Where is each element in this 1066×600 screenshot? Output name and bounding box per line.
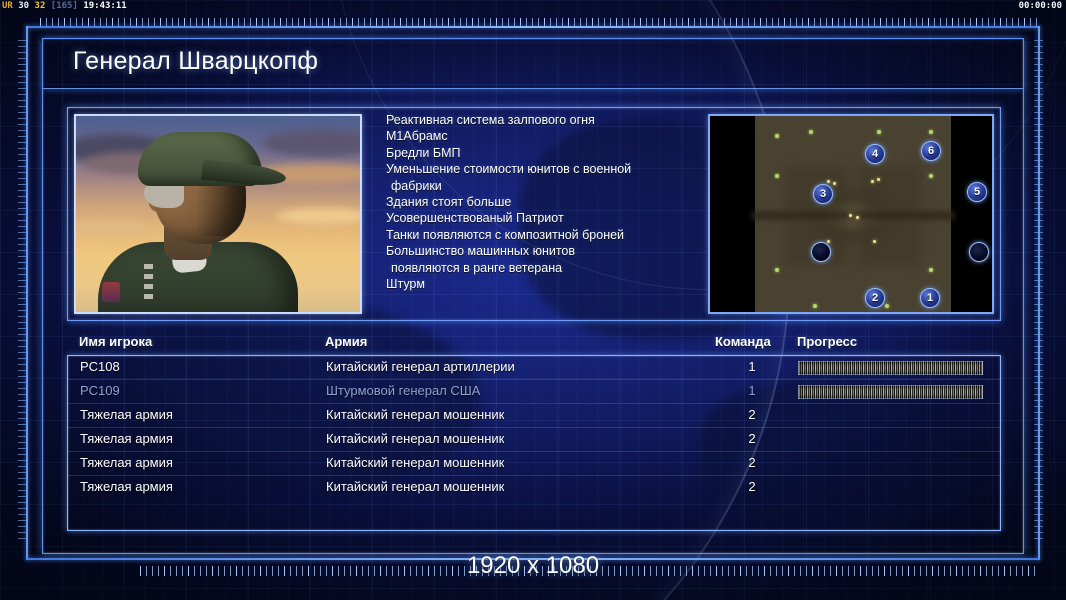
cell-army: Китайский генерал артиллерии <box>326 359 515 374</box>
ability-line: фабрики <box>386 178 704 194</box>
map-marker-9 <box>813 304 817 308</box>
portrait-cloud-6 <box>74 220 150 236</box>
table-row: PC108Китайский генерал артиллерии1 <box>68 356 1000 380</box>
column-header-team: Команда <box>715 334 771 349</box>
column-header-army: Армия <box>325 334 367 349</box>
map-marker-5 <box>775 174 779 178</box>
general-abilities-list: Реактивная система залпового огняМ1Абрам… <box>386 112 704 292</box>
ability-line: Бредли БМП <box>386 145 704 161</box>
frame-line-right <box>1038 26 1040 560</box>
resolution-label: 1920 x 1080 <box>0 552 1066 580</box>
portrait-shoulder-patch <box>102 282 120 302</box>
map-marker-10 <box>885 304 889 308</box>
column-header-player: Имя игрока <box>79 334 152 349</box>
map-resource-1 <box>827 180 830 183</box>
panel-title-bar: Генерал Шварцкопф <box>43 39 1023 89</box>
cell-team: 2 <box>738 455 766 470</box>
cell-army: Штурмовой генерал США <box>326 383 480 398</box>
map-start-position: 4 <box>865 144 885 164</box>
map-marker-2 <box>809 130 813 134</box>
ability-line: Реактивная система залпового огня <box>386 112 704 128</box>
map-resource-2 <box>833 182 836 185</box>
map-marker-3 <box>877 130 881 134</box>
map-resource-6 <box>856 216 859 219</box>
cell-team: 2 <box>738 407 766 422</box>
map-preview: 463521 <box>708 114 994 314</box>
loading-screen-panel: Генерал Шварцкопф <box>42 38 1024 554</box>
ability-line: Большинство машинных юнитов <box>386 243 704 259</box>
table-row: Тяжелая армияКитайский генерал мошенник2 <box>68 404 1000 428</box>
cell-team: 1 <box>738 359 766 374</box>
ability-line: Усовершенствованый Патриот <box>386 210 704 226</box>
ability-line: Танки появляются с композитной броней <box>386 227 704 243</box>
cell-player-name: PC109 <box>80 383 120 398</box>
cell-player-name: PC108 <box>80 359 120 374</box>
progress-bar <box>798 361 983 375</box>
ability-line: Штурм <box>386 276 704 292</box>
table-row: Тяжелая армияКитайский генерал мошенник2 <box>68 428 1000 452</box>
map-start-position: 6 <box>921 141 941 161</box>
page-title: Генерал Шварцкопф <box>73 47 318 76</box>
portrait-cloud-5 <box>276 208 362 224</box>
map-start-position: 1 <box>920 288 940 308</box>
general-portrait <box>74 114 362 314</box>
ability-line: М1Абрамс <box>386 128 704 144</box>
map-resource-7 <box>827 240 830 243</box>
portrait-rank-insignia <box>144 264 153 302</box>
cell-team: 1 <box>738 383 766 398</box>
player-list: PC108Китайский генерал артиллерии1PC109Ш… <box>67 355 1001 531</box>
cell-team: 2 <box>738 431 766 446</box>
map-start-position: 2 <box>865 288 885 308</box>
table-row: Тяжелая армияКитайский генерал мошенник2 <box>68 476 1000 500</box>
player-table-header: Имя игрока Армия Команда Прогресс <box>67 331 1001 355</box>
cell-player-name: Тяжелая армия <box>80 431 173 446</box>
ability-line: Уменьшение стоимости юнитов с военной <box>386 161 704 177</box>
cell-army: Китайский генерал мошенник <box>326 407 504 422</box>
map-river <box>751 208 955 223</box>
map-resource-8 <box>873 240 876 243</box>
cell-army: Китайский генерал мошенник <box>326 455 504 470</box>
map-marker-6 <box>929 174 933 178</box>
ability-line: появляются в ранге ветерана <box>386 260 704 276</box>
progress-bar <box>798 385 983 399</box>
map-resource-3 <box>871 180 874 183</box>
frame-line-left <box>26 26 28 560</box>
cell-team: 2 <box>738 479 766 494</box>
general-info-panel: Реактивная система залпового огняМ1Абрам… <box>67 107 1001 321</box>
map-start-position <box>811 242 831 262</box>
cell-player-name: Тяжелая армия <box>80 479 173 494</box>
table-row: PC109Штурмовой генерал США1 <box>68 380 1000 404</box>
frame-line-top <box>26 26 1040 28</box>
map-marker-8 <box>929 268 933 272</box>
map-start-position: 3 <box>813 184 833 204</box>
map-resource-5 <box>849 214 852 217</box>
cell-player-name: Тяжелая армия <box>80 455 173 470</box>
map-resource-4 <box>877 178 880 181</box>
ability-line: Здания стоят больше <box>386 194 704 210</box>
cell-player-name: Тяжелая армия <box>80 407 173 422</box>
map-terrain: 463521 <box>755 116 951 314</box>
map-start-position <box>969 242 989 262</box>
map-marker-7 <box>775 268 779 272</box>
cell-army: Китайский генерал мошенник <box>326 431 504 446</box>
map-marker-4 <box>929 130 933 134</box>
table-row: Тяжелая армияКитайский генерал мошенник2 <box>68 452 1000 476</box>
column-header-progress: Прогресс <box>797 334 857 349</box>
map-start-position: 5 <box>967 182 987 202</box>
cell-army: Китайский генерал мошенник <box>326 479 504 494</box>
map-marker-1 <box>775 134 779 138</box>
